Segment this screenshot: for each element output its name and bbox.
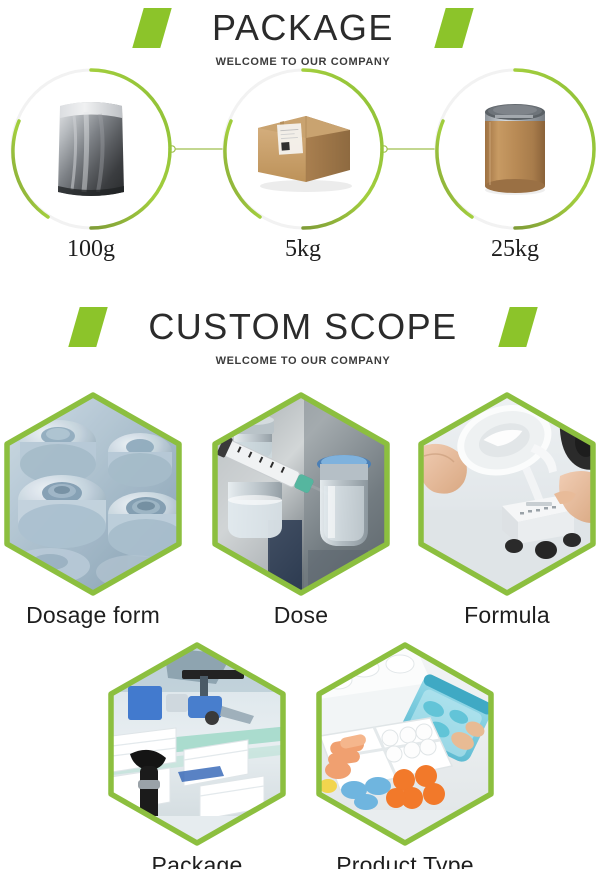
- scope-item-label: Dose: [188, 602, 414, 629]
- scope-item-label: Package: [84, 852, 310, 869]
- package-item-label: 5kg: [220, 236, 386, 263]
- package-item-label: 25kg: [432, 236, 598, 263]
- custom-scope-title-row: CUSTOM SCOPE: [0, 305, 606, 349]
- accent-parallelogram-left-icon: [132, 8, 171, 48]
- accent-parallelogram-right-icon: [498, 307, 537, 347]
- hexagon-frame-icon: [208, 390, 394, 598]
- package-item-label: 100g: [8, 236, 174, 263]
- connector-line-2: [380, 143, 436, 155]
- scope-item-label: Dosage form: [0, 602, 206, 629]
- cardboard-carton-photo: [240, 86, 366, 212]
- scope-item-dosage-form[interactable]: Dosage form: [0, 390, 186, 640]
- package-title: PACKAGE: [212, 8, 394, 48]
- package-item-5kg[interactable]: 5kg: [220, 66, 386, 276]
- product-detail-page: PACKAGE WELCOME TO OUR COMPANY: [0, 0, 606, 869]
- hexagon-frame-icon: [414, 390, 600, 598]
- scope-item-label: Formula: [394, 602, 606, 629]
- scope-item-label: Product Type: [292, 852, 518, 869]
- accent-parallelogram-left-icon: [69, 307, 108, 347]
- accent-parallelogram-right-icon: [434, 8, 473, 48]
- package-section-heading: PACKAGE WELCOME TO OUR COMPANY: [0, 6, 606, 68]
- package-items-row: 100g: [0, 66, 606, 276]
- scope-item-package[interactable]: Package: [104, 640, 290, 869]
- connector-line-1: [168, 143, 224, 155]
- hexagon-frame-icon: [0, 390, 186, 598]
- scope-item-formula[interactable]: Formula: [414, 390, 600, 640]
- fiber-drum-photo: [452, 86, 578, 212]
- hexagon-frame-icon: [104, 640, 290, 848]
- package-item-100g[interactable]: 100g: [8, 66, 174, 276]
- custom-scope-section-heading: CUSTOM SCOPE WELCOME TO OUR COMPANY: [0, 305, 606, 367]
- scope-item-product-type[interactable]: Product Type: [312, 640, 498, 869]
- package-title-row: PACKAGE: [0, 6, 606, 50]
- scope-item-dose[interactable]: Dose: [208, 390, 394, 640]
- custom-scope-items-grid: Dosage form: [0, 390, 606, 869]
- foil-pouch-photo: [28, 86, 154, 212]
- hexagon-frame-icon: [312, 640, 498, 848]
- custom-scope-title: CUSTOM SCOPE: [148, 307, 457, 347]
- custom-scope-subtitle: WELCOME TO OUR COMPANY: [0, 355, 606, 367]
- package-item-25kg[interactable]: 25kg: [432, 66, 598, 276]
